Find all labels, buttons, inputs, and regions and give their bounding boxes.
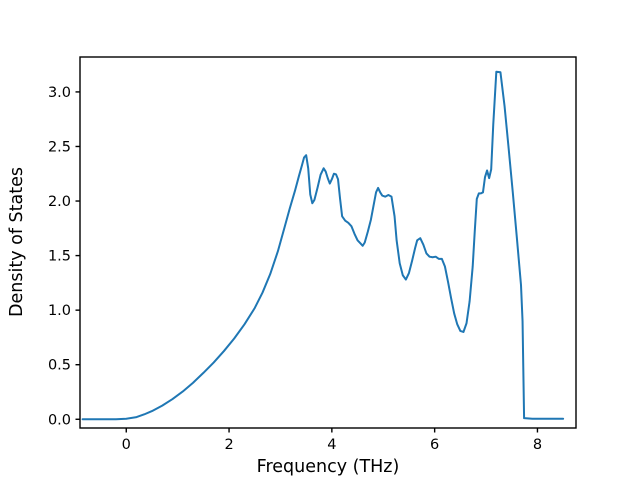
figure-canvas: 02468 0.00.51.01.52.02.53.0 Frequency (T… xyxy=(0,0,640,480)
y-tick-label: 3.0 xyxy=(48,85,71,101)
x-tick-label: 6 xyxy=(430,437,439,453)
y-tick-label: 0.5 xyxy=(48,358,71,374)
y-tick-label: 2.5 xyxy=(48,139,71,155)
x-tick-label: 0 xyxy=(122,437,131,453)
y-tick-label: 2.0 xyxy=(48,194,71,210)
y-axis-label: Density of States xyxy=(7,167,27,317)
axes-background xyxy=(80,57,576,428)
x-tick-label: 8 xyxy=(533,437,542,453)
y-tick-label: 1.5 xyxy=(48,249,71,265)
x-tick-label: 4 xyxy=(327,437,336,453)
y-tick-label: 0.0 xyxy=(48,412,71,428)
x-tick-label: 2 xyxy=(224,437,233,453)
dos-line-chart: 02468 0.00.51.01.52.02.53.0 Frequency (T… xyxy=(0,0,640,480)
x-axis-label: Frequency (THz) xyxy=(257,457,400,477)
y-tick-label: 1.0 xyxy=(48,303,71,319)
